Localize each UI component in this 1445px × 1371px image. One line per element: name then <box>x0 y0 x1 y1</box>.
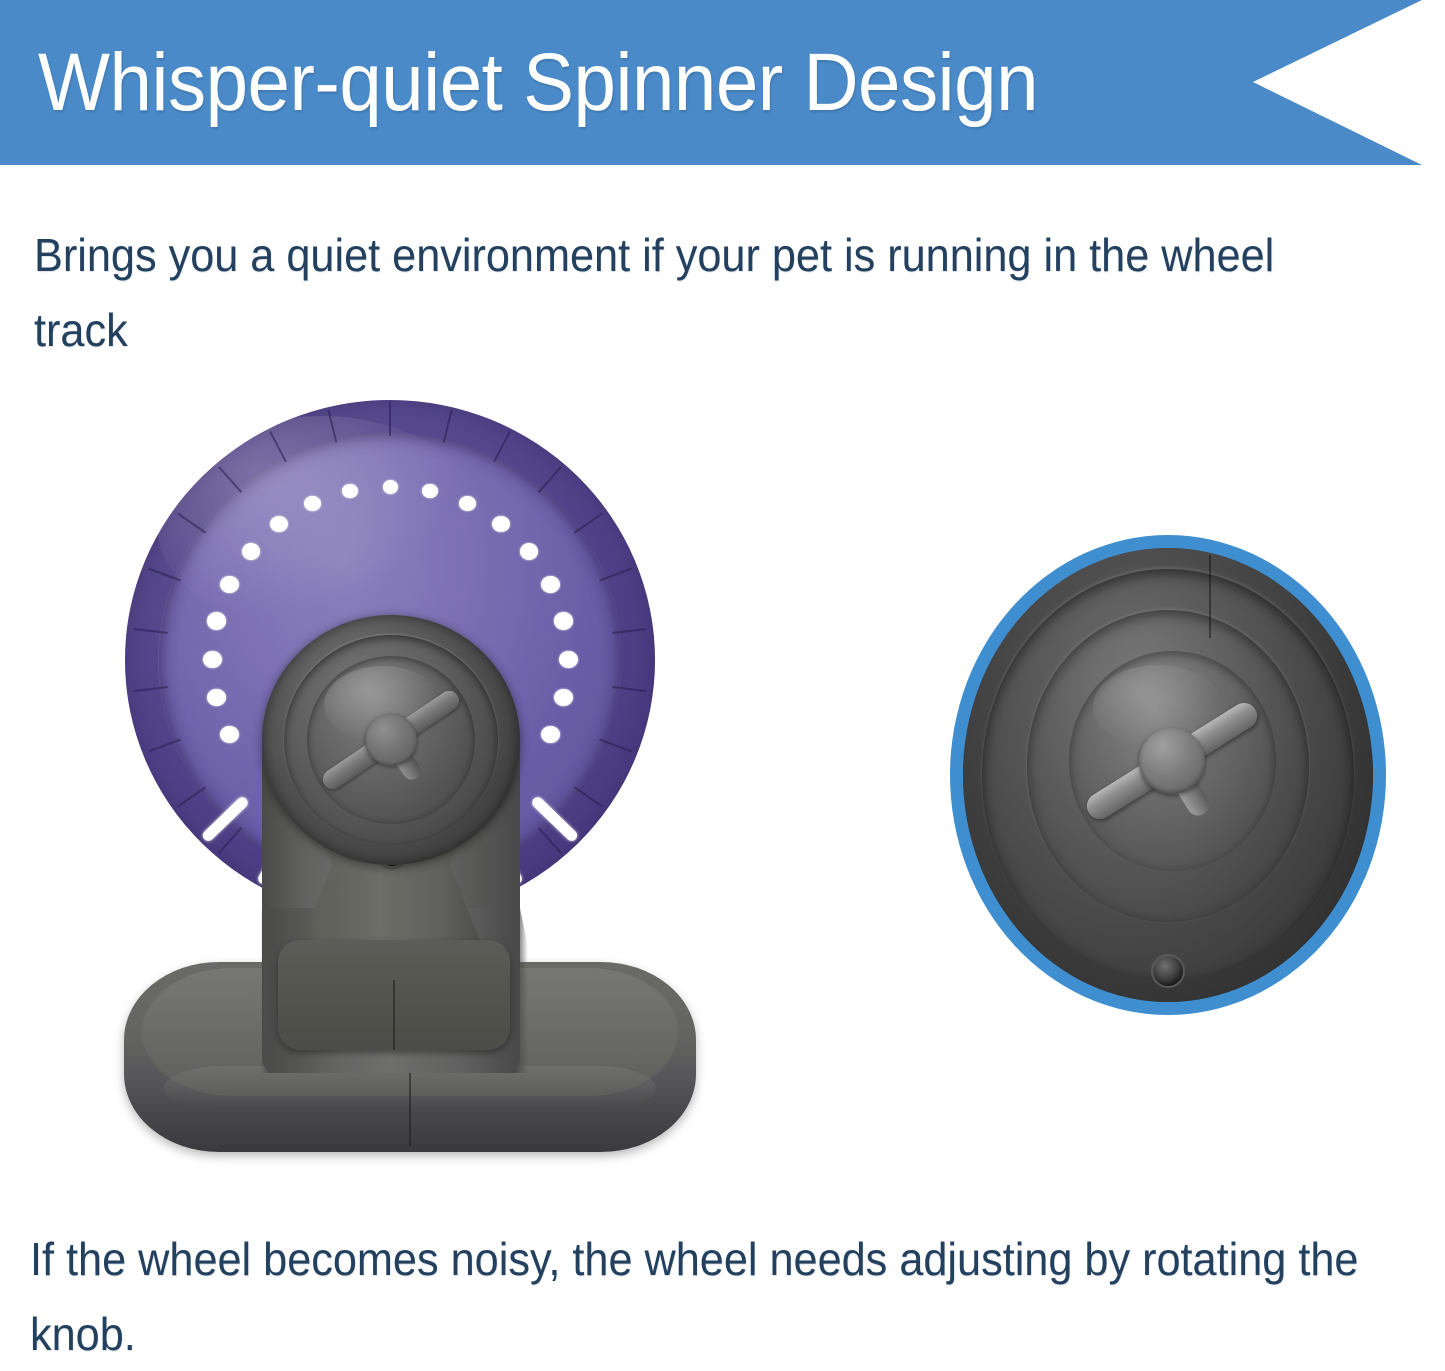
callout-background <box>961 546 1375 1004</box>
wheel-air-hole <box>422 484 438 499</box>
foot-seam <box>393 980 395 1050</box>
page-title: Whisper-quiet Spinner Design <box>38 18 1154 148</box>
bottom-instruction-text: If the wheel becomes noisy, the wheel ne… <box>30 1222 1374 1371</box>
wheel-air-hole <box>520 543 538 560</box>
hub-dial <box>307 656 475 824</box>
wheel-air-hole <box>492 516 509 532</box>
wheel-air-hole <box>270 516 287 532</box>
wheel-air-hole <box>541 726 560 743</box>
wheel-air-hole <box>383 480 398 494</box>
product-photo-area <box>0 380 1445 1180</box>
wheel-air-hole <box>242 543 260 560</box>
wheel-air-hole <box>554 612 573 629</box>
wheel-rim-tick <box>389 402 391 436</box>
wheel-air-hole <box>220 726 239 743</box>
callout-screw-icon <box>1151 954 1185 988</box>
wheel-air-hole <box>220 576 239 593</box>
wheel-air-hole <box>459 496 476 511</box>
spinner-hub <box>262 615 520 865</box>
adjustment-knob-center <box>365 714 417 766</box>
wheel-air-hole <box>541 576 560 593</box>
wheel-air-hole <box>203 651 222 668</box>
hub-inner-ring <box>284 635 498 845</box>
detail-callout-circle <box>950 535 1386 1015</box>
wheel-air-hole <box>207 612 226 629</box>
product-assembly <box>110 400 710 1180</box>
wheel-air-hole <box>559 651 578 668</box>
callout-hub-dial <box>1069 651 1276 871</box>
stand-foot <box>278 940 510 1050</box>
callout-knob-center <box>1139 728 1205 794</box>
top-description-text: Brings you a quiet environment if your p… <box>34 218 1369 367</box>
callout-hub-seam <box>1209 555 1211 637</box>
